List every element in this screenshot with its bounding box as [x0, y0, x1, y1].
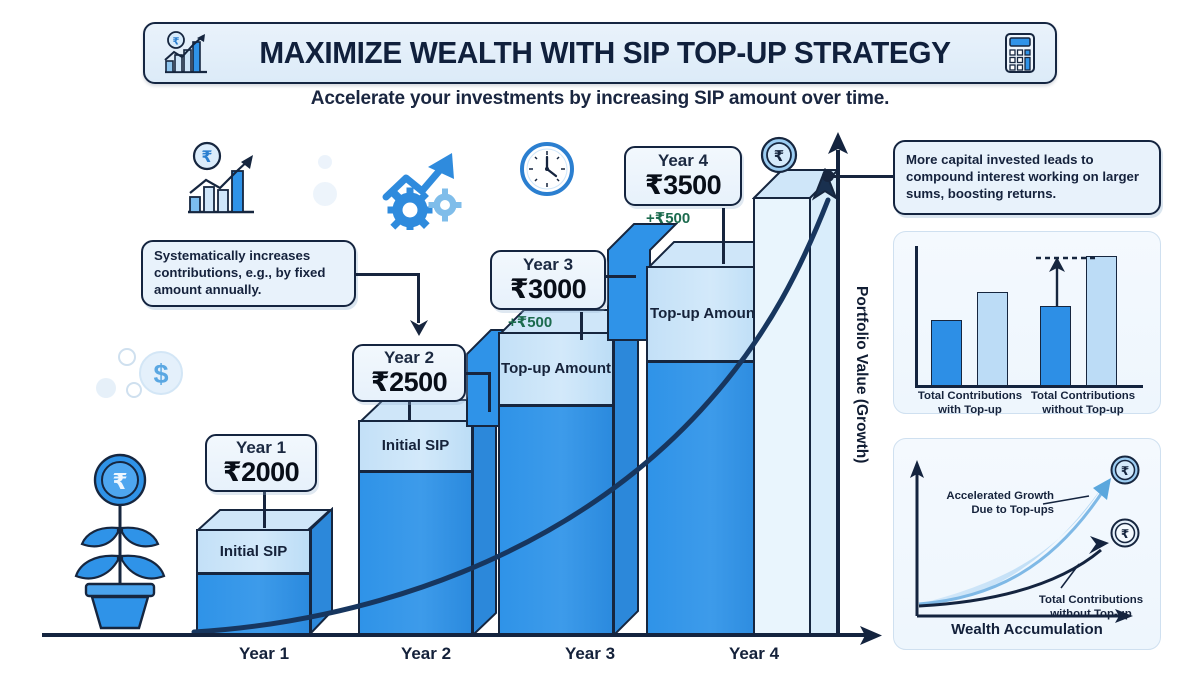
y-axis-label: Portfolio Value (Growth) — [852, 286, 870, 463]
value-box-year-label: Year 1 — [236, 439, 286, 457]
value-box-year-1[interactable]: Year 1 ₹2000 — [205, 434, 317, 492]
value-box-amount: ₹3000 — [510, 274, 586, 304]
wealth-panel-caption-text: Wealth Accumulation — [951, 621, 1103, 638]
x-tick-year-2: Year 2 — [366, 644, 486, 664]
calculator-icon — [999, 30, 1041, 76]
svg-text:₹: ₹ — [1121, 464, 1129, 478]
y-axis — [836, 150, 840, 635]
x-axis-arrowhead-icon — [860, 626, 882, 650]
bar-segment-topup-amount: Top-up Amount — [498, 332, 614, 406]
value-box-year-label: Year 3 — [523, 256, 573, 274]
left-callout-leader-h — [355, 273, 419, 276]
svg-text:₹: ₹ — [112, 470, 127, 495]
mini-label-with-topup-text: Total Contributions with Top-up — [918, 390, 1022, 416]
leader-connector-year-2 — [464, 372, 490, 375]
mini-label-without-topup-text: Total Contributions without Top-up — [1031, 390, 1135, 416]
x-tick-year-1: Year 1 — [204, 644, 324, 664]
svg-text:₹: ₹ — [201, 147, 212, 166]
wealth-annotation-without-topup-line2: without Top-up — [1035, 608, 1147, 622]
right-callout-text: More capital invested leads to compound … — [895, 152, 1159, 203]
gears-trend-arrow-icon — [380, 145, 480, 235]
rupee-coin-icon: ₹ — [760, 136, 798, 179]
wealth-annotation-without-topup-line1: Total Contributions — [1035, 594, 1147, 608]
decorative-bubble — [118, 348, 136, 366]
value-box-year-2[interactable]: Year 2 ₹2500 — [352, 344, 466, 402]
svg-text:$: $ — [153, 359, 168, 389]
leader-connector-year-2-down — [488, 372, 491, 412]
svg-text:₹: ₹ — [1121, 527, 1129, 541]
value-box-year-4[interactable]: Year 4 ₹3500 — [624, 146, 742, 206]
bar-segment-base — [358, 471, 473, 635]
infographic-canvas: ₹ MAXIMIZE WEALTH WITH SIP TOP-UP STRATE… — [0, 0, 1200, 675]
page-title: MAXIMIZE WEALTH WITH SIP TOP-UP STRATEGY — [227, 35, 983, 71]
rupee-coin-icon: ₹ — [1110, 518, 1140, 553]
wealth-annotation-accelerated-line1: Accelerated Growth — [938, 490, 1054, 504]
wealth-annotation-without-topup: Total Contributions without Top-up — [1035, 594, 1147, 621]
left-callout-leader-v — [417, 273, 420, 323]
mini-bar-with-topup-a — [931, 320, 962, 386]
dollar-bubble-icon: $ — [138, 350, 184, 401]
left-callout-text: Systematically increases contributions, … — [143, 248, 354, 299]
left-callout-arrowhead-icon — [410, 318, 428, 341]
svg-text:₹: ₹ — [774, 147, 784, 165]
clock-icon — [518, 140, 576, 203]
leader-line-year-3 — [580, 312, 583, 340]
comparison-panel-y-axis — [915, 246, 918, 386]
wealth-annotation-accelerated: Accelerated Growth Due to Top-ups — [938, 490, 1054, 517]
bar-segment-base — [646, 361, 764, 635]
rupee-coin-icon: ₹ — [1110, 455, 1140, 490]
value-box-amount: ₹2000 — [223, 457, 299, 487]
y-axis-arrowhead-icon — [828, 132, 848, 161]
value-box-amount: ₹2500 — [371, 367, 447, 397]
value-box-amount: ₹3500 — [645, 170, 721, 200]
decorative-bubble — [313, 182, 337, 206]
leader-line-year-2 — [408, 400, 411, 422]
leader-line-year-1 — [263, 488, 266, 528]
wealth-panel-caption: Wealth Accumulation — [893, 621, 1161, 638]
money-plant-rupee-coin-icon: ₹ — [60, 448, 180, 635]
x-tick-year-4: Year 4 — [694, 644, 814, 664]
mini-bar-with-topup-b — [977, 292, 1008, 386]
leader-connector-year-3 — [604, 275, 636, 278]
value-box-year-label: Year 2 — [384, 349, 434, 367]
bar-segment-initial-sip: Initial SIP — [358, 420, 473, 472]
right-callout-leader — [828, 175, 894, 178]
title-banner: ₹ MAXIMIZE WEALTH WITH SIP TOP-UP STRATE… — [143, 22, 1057, 84]
topup-increment-year-3: +₹500 — [508, 313, 552, 331]
uplift-arrow-icon — [1046, 255, 1070, 314]
growth-bar-chart-rupee-icon: ₹ — [159, 30, 211, 76]
svg-text:₹: ₹ — [173, 37, 180, 48]
mini-label-with-topup: Total Contributions with Top-up — [914, 390, 1026, 417]
topup-increment-year-4: +₹500 — [646, 209, 690, 227]
decorative-bubble — [96, 378, 116, 398]
left-callout: Systematically increases contributions, … — [141, 240, 356, 307]
mini-bar-without-topup-b — [1086, 256, 1117, 386]
bar-segment-base — [196, 573, 311, 635]
x-axis — [42, 633, 866, 637]
decorative-bubble — [318, 155, 332, 169]
bar-segment-topup-amount: Top-up Amount — [646, 266, 764, 362]
bar-segment-base — [498, 405, 614, 635]
wealth-annotation-accelerated-line2: Due to Top-ups — [938, 504, 1054, 518]
page-subtitle: Accelerate your investments by increasin… — [0, 88, 1200, 110]
mini-bar-without-topup-a — [1040, 306, 1071, 386]
value-box-year-label: Year 4 — [658, 152, 708, 170]
bar-segment-initial-sip: Initial SIP — [196, 529, 311, 574]
x-tick-year-3: Year 3 — [530, 644, 650, 664]
right-callout-anchor-dot — [822, 170, 834, 182]
value-box-year-3[interactable]: Year 3 ₹3000 — [490, 250, 606, 310]
mini-label-without-topup: Total Contributions without Top-up — [1024, 390, 1142, 417]
leader-line-year-4 — [722, 208, 725, 264]
right-callout: More capital invested leads to compound … — [893, 140, 1161, 215]
bar-chart-rupee-growth-icon: ₹ — [180, 140, 260, 225]
